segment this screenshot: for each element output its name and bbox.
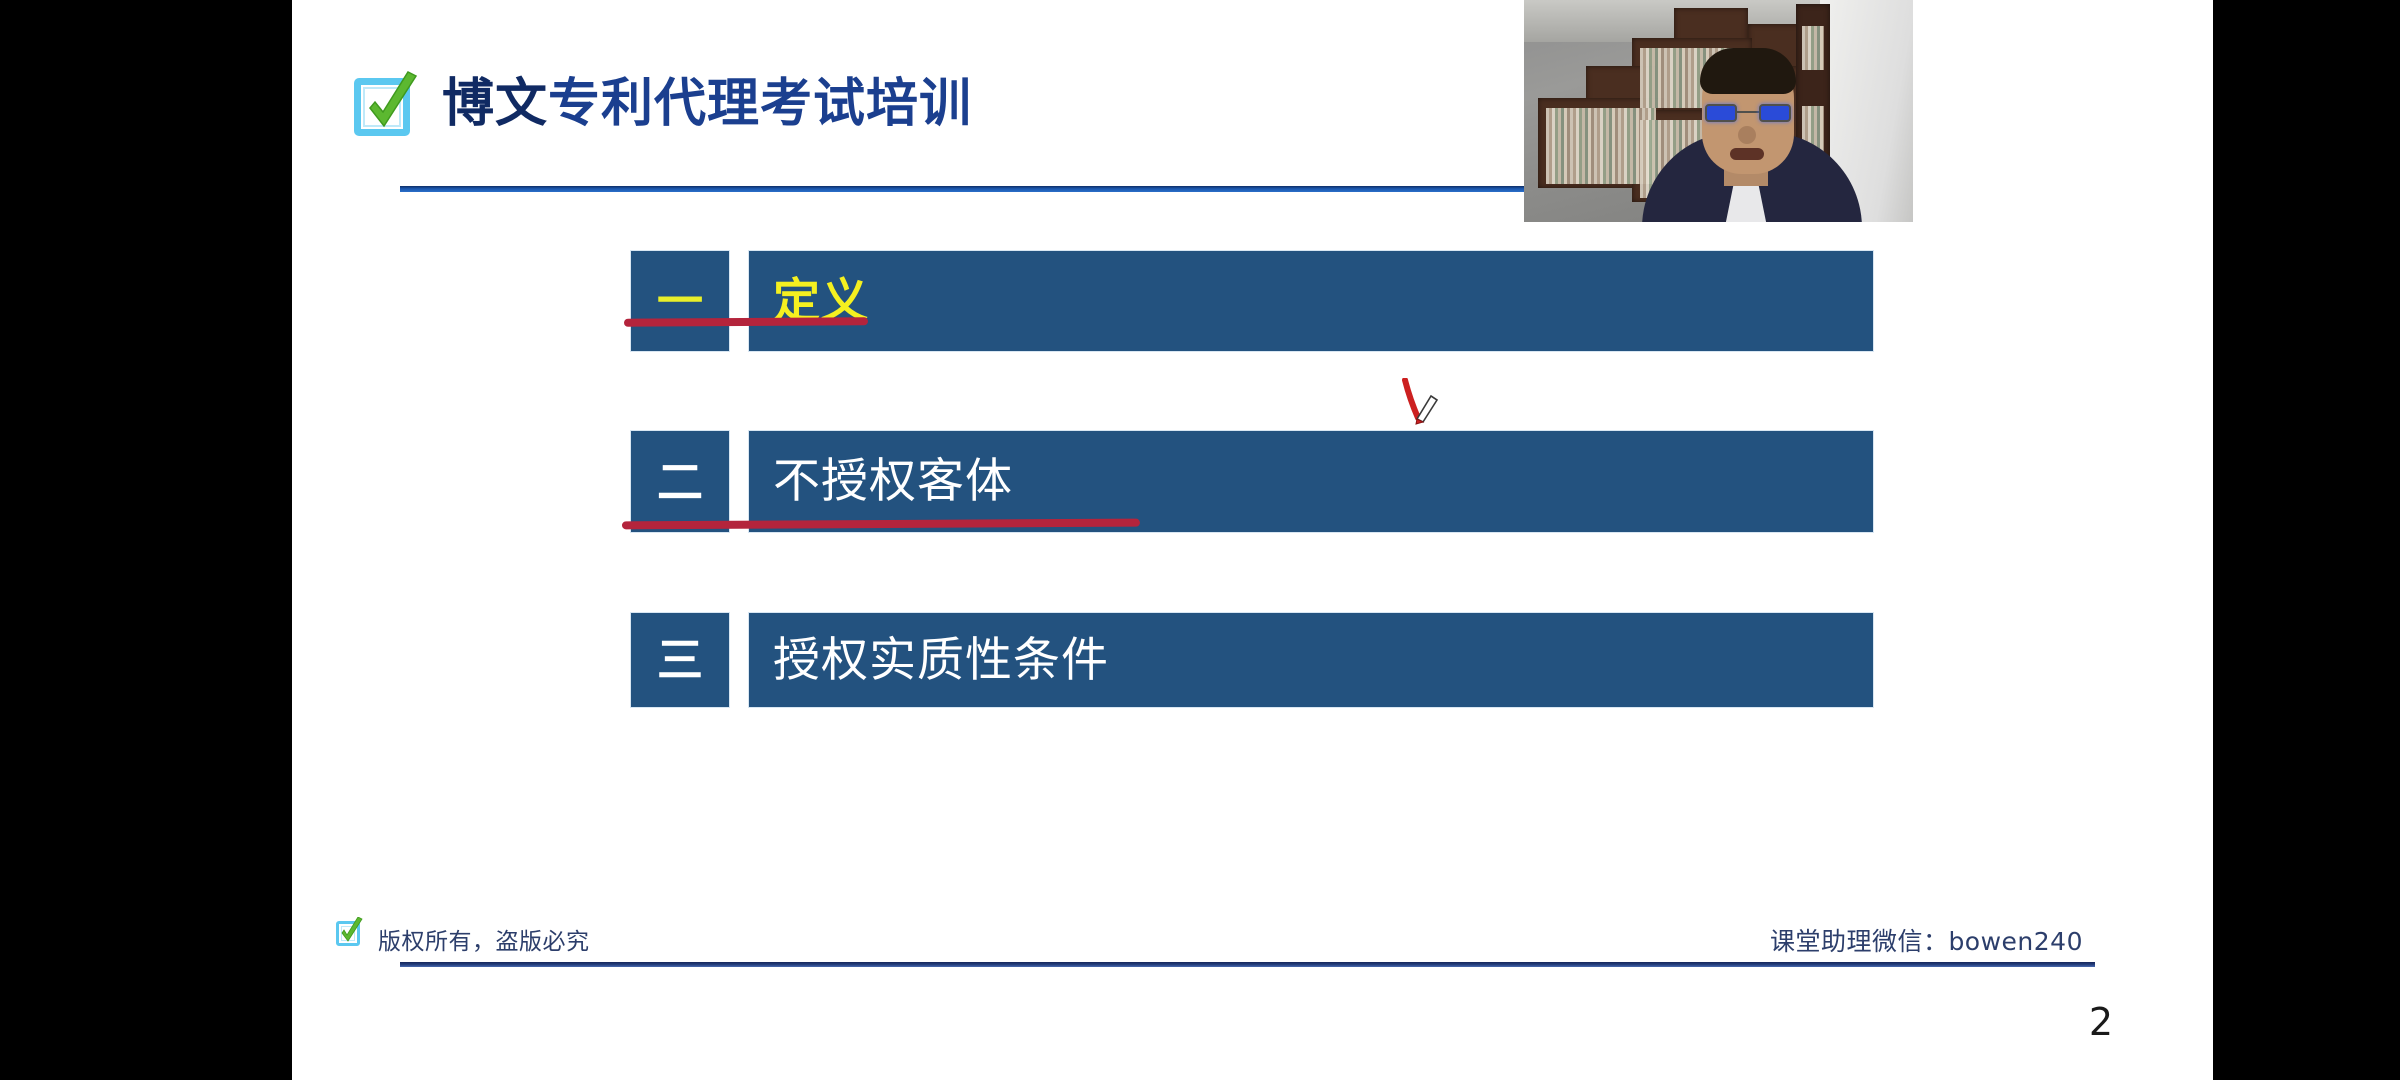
agenda-label: 授权实质性条件 [748,612,1874,708]
slide-footer: 版权所有，盗版必究 课堂助理微信：bowen240 2 [292,900,2213,1080]
footer-checkmark-icon [334,918,364,950]
slide-canvas[interactable]: 博文专利代理考试培训 一 定义 二 不授权客体 三 授权实质性条件 [292,0,2213,1080]
red-pen-cursor-icon [1397,378,1443,428]
page-number: 2 [2089,1000,2113,1044]
assistant-wechat-label: 课堂助理微信：bowen240 [1770,922,2083,958]
agenda-row[interactable]: 三 授权实质性条件 [630,612,1874,708]
letterbox-left [0,0,292,1080]
agenda-number: 二 [630,430,730,533]
books-row [1802,26,1824,70]
presentation-stage: 博文专利代理考试培训 一 定义 二 不授权客体 三 授权实质性条件 [0,0,2400,1080]
agenda-number: 三 [630,612,730,708]
agenda-row[interactable]: 二 不授权客体 [630,430,1874,533]
agenda-row[interactable]: 一 定义 [630,250,1874,352]
presenter-nose [1738,126,1756,144]
agenda-label: 不授权客体 [748,430,1874,533]
copyright-notice: 版权所有，盗版必究 [378,922,590,956]
agenda-number: 一 [630,250,730,352]
presenter-mouth [1730,148,1764,160]
agenda-label: 定义 [748,250,1874,352]
presenter-hair [1700,48,1796,94]
letterbox-right [2213,0,2400,1080]
presenter-glasses-icon [1705,104,1791,124]
presenter-camera-overlay[interactable] [1524,0,1913,222]
footer-divider [400,962,2095,967]
